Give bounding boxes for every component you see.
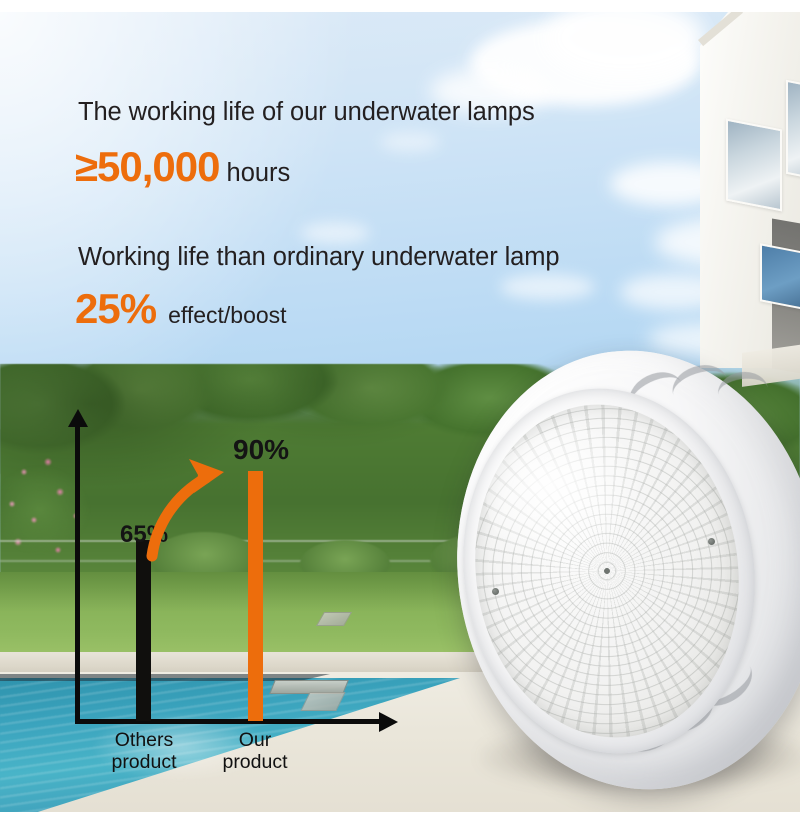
marketing-banner: The working life of our underwater lamps… (0, 0, 800, 839)
comparison-bar-chart: 65% 90% Othersproduct Ourproduct (0, 0, 800, 839)
bottom-white-margin (0, 812, 800, 839)
bar-our-product (248, 471, 263, 721)
x-axis (75, 719, 385, 724)
top-white-margin (0, 0, 800, 12)
x-axis-arrow-icon (379, 712, 398, 732)
bar-others-product (136, 540, 151, 721)
x-tick-label-others: Othersproduct (97, 730, 191, 774)
y-axis (75, 424, 80, 723)
growth-arrow-icon (140, 448, 250, 563)
y-axis-arrow-icon (68, 409, 88, 427)
x-tick-label-our: Ourproduct (213, 730, 297, 774)
